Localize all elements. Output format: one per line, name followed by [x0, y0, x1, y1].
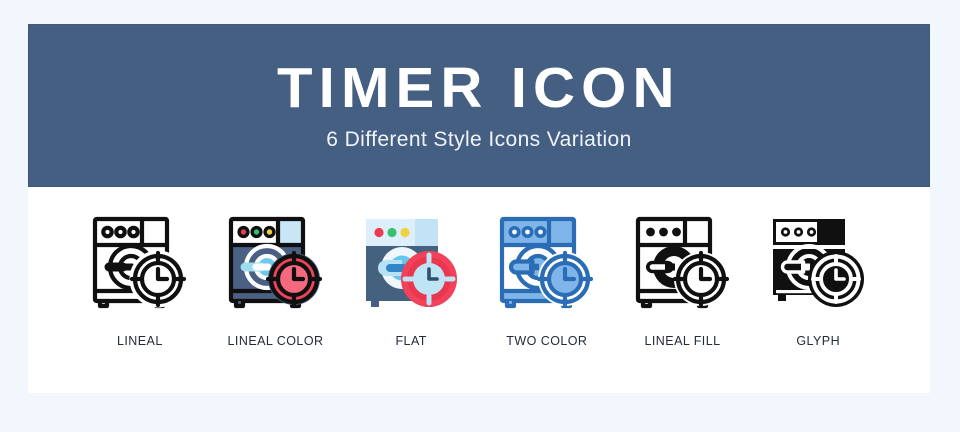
icon-label-lineal-fill: LINEAL FILL — [644, 334, 720, 348]
timer-washing-machine-icon-lineal — [86, 211, 194, 315]
icon-cell-two-color[interactable]: TWO COLOR — [479, 211, 615, 348]
icon-cell-lineal-color[interactable]: LINEAL COLOR — [208, 211, 344, 348]
poster-canvas: TIMER ICON 6 Different Style Icons Varia… — [0, 0, 960, 432]
icon-cell-lineal-fill[interactable]: LINEAL FILL — [615, 211, 751, 348]
icon-cell-flat[interactable]: FLAT — [343, 211, 479, 348]
timer-washing-machine-icon-flat — [357, 211, 465, 315]
icon-cell-lineal[interactable]: LINEAL — [72, 211, 208, 348]
timer-washing-machine-icon-two-color — [493, 211, 601, 315]
timer-washing-machine-icon-lineal-color — [222, 211, 330, 315]
icon-label-lineal: LINEAL — [117, 334, 163, 348]
icon-label-two-color: TWO COLOR — [506, 334, 587, 348]
banner-header: TIMER ICON 6 Different Style Icons Varia… — [28, 24, 930, 187]
icon-label-flat: FLAT — [395, 334, 426, 348]
page-subtitle: 6 Different Style Icons Variation — [326, 128, 631, 152]
page-title: TIMER ICON — [277, 59, 681, 117]
timer-washing-machine-icon-lineal-fill — [629, 211, 737, 315]
icon-cell-glyph[interactable]: GLYPH — [750, 211, 886, 348]
icon-label-glyph: GLYPH — [796, 334, 840, 348]
icon-label-lineal-color: LINEAL COLOR — [228, 334, 324, 348]
icon-variation-row: LINEAL — [28, 187, 930, 393]
timer-washing-machine-icon-glyph — [764, 211, 872, 315]
icon-showcase-card: LINEAL — [28, 187, 930, 393]
